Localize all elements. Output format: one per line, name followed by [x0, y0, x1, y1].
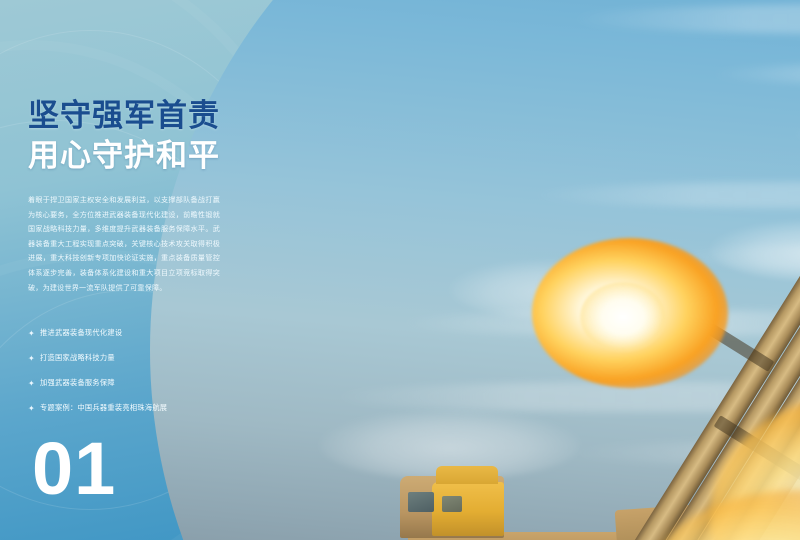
list-item-label: 推进武器装备现代化建设: [40, 328, 122, 338]
diamond-bullet-icon: ✦: [28, 381, 33, 386]
list-item-label: 打造国家战略科技力量: [40, 353, 115, 363]
list-item: ✦ 打造国家战略科技力量: [28, 350, 258, 367]
title-line-1: 坚守强军首责: [28, 96, 258, 136]
page-title: 坚守强军首责 用心守护和平: [28, 96, 258, 175]
text-column: 坚守强军首责 用心守护和平 着眼于捍卫国家主权安全和发展利益，以支撑部队备战打赢…: [28, 0, 258, 540]
vehicle-windshield: [408, 492, 434, 512]
muzzle-flash-core: [580, 282, 666, 352]
diamond-bullet-icon: ✦: [28, 356, 33, 361]
list-item: ✦ 专题案例：中国兵器重装亮相珠海航展: [28, 400, 258, 417]
body-paragraph: 着眼于捍卫国家主权安全和发展利益，以支撑部队备战打赢为核心要务，全方位推进武器装…: [28, 193, 220, 295]
diamond-bullet-icon: ✦: [28, 406, 33, 411]
list-item: ✦ 加强武器装备服务保障: [28, 375, 258, 392]
chapter-number: 01: [32, 432, 116, 506]
list-item-label: 专题案例：中国兵器重装亮相珠海航展: [40, 403, 167, 413]
list-item: ✦ 推进武器装备现代化建设: [28, 325, 258, 342]
bullet-list: ✦ 推进武器装备现代化建设 ✦ 打造国家战略科技力量 ✦ 加强武器装备服务保障 …: [28, 325, 258, 417]
title-line-2: 用心守护和平: [28, 136, 258, 176]
list-item-label: 加强武器装备服务保障: [40, 378, 115, 388]
diamond-bullet-icon: ✦: [28, 331, 33, 336]
poster-page: 坚守强军首责 用心守护和平 着眼于捍卫国家主权安全和发展利益，以支撑部队备战打赢…: [0, 0, 800, 540]
